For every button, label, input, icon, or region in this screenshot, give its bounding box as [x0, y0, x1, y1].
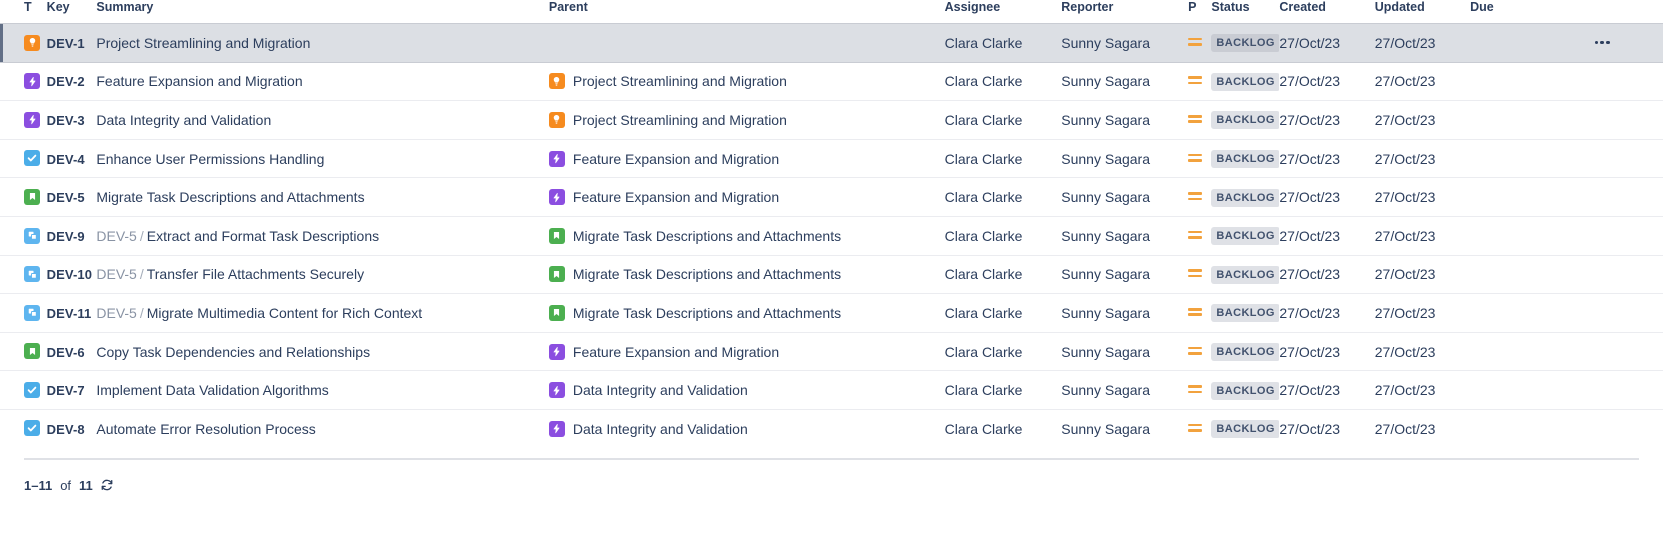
pagination-total: 11	[79, 478, 93, 493]
bookmark-icon	[24, 189, 40, 205]
status-badge: BACKLOG	[1211, 304, 1279, 322]
column-header-type[interactable]: T	[0, 0, 47, 24]
parent-title: Migrate Task Descriptions and Attachment…	[573, 266, 841, 282]
table-body: DEV-1Project Streamlining and MigrationC…	[0, 24, 1663, 448]
cell-parent[interactable]: Project Streamlining and Migration	[549, 62, 945, 101]
cell-due	[1470, 101, 1663, 140]
cell-created: 27/Oct/23	[1279, 371, 1374, 410]
column-header-summary[interactable]: Summary	[96, 0, 549, 24]
summary-parent-key: DEV-5	[96, 305, 136, 321]
priority-medium-icon	[1188, 229, 1202, 241]
cell-status[interactable]: BACKLOG	[1211, 101, 1279, 140]
parent-title: Project Streamlining and Migration	[573, 73, 787, 89]
cell-created: 27/Oct/23	[1279, 139, 1374, 178]
priority-medium-icon	[1188, 306, 1202, 318]
cell-key[interactable]: DEV-3	[47, 101, 97, 140]
cell-due	[1470, 139, 1663, 178]
cell-assignee: Clara Clarke	[945, 332, 1062, 371]
cell-key[interactable]: DEV-4	[47, 139, 97, 178]
summary-title: Extract and Format Task Descriptions	[147, 228, 379, 244]
issue-key-link[interactable]: DEV-7	[47, 383, 85, 398]
cell-summary[interactable]: Project Streamlining and Migration	[96, 24, 549, 63]
cell-priority	[1188, 62, 1211, 101]
table-row[interactable]: DEV-10DEV-5/Transfer File Attachments Se…	[0, 255, 1663, 294]
cell-key[interactable]: DEV-6	[47, 332, 97, 371]
cell-summary[interactable]: Implement Data Validation Algorithms	[96, 371, 549, 410]
cell-updated: 27/Oct/23	[1375, 294, 1470, 333]
cell-priority	[1188, 24, 1211, 63]
parent-title: Migrate Task Descriptions and Attachment…	[573, 305, 841, 321]
cell-type[interactable]	[0, 409, 47, 447]
cell-priority	[1188, 139, 1211, 178]
cell-priority	[1188, 332, 1211, 371]
cell-parent[interactable]: Migrate Task Descriptions and Attachment…	[549, 216, 945, 255]
cell-summary[interactable]: Migrate Task Descriptions and Attachment…	[96, 178, 549, 217]
cell-priority	[1188, 294, 1211, 333]
issues-table: T Key Summary Parent Assignee Reporter P…	[0, 0, 1663, 448]
cell-type[interactable]	[0, 216, 47, 255]
parent-title: Data Integrity and Validation	[573, 382, 748, 398]
cell-summary[interactable]: DEV-5/Extract and Format Task Descriptio…	[96, 216, 549, 255]
cell-priority	[1188, 371, 1211, 410]
cell-assignee: Clara Clarke	[945, 178, 1062, 217]
priority-medium-icon	[1188, 422, 1202, 434]
cell-reporter: Sunny Sagara	[1061, 294, 1188, 333]
summary-title: Enhance User Permissions Handling	[96, 151, 324, 167]
cell-due	[1470, 216, 1663, 255]
cell-type[interactable]	[0, 332, 47, 371]
column-header-created[interactable]: Created	[1279, 0, 1374, 24]
cell-summary[interactable]: Automate Error Resolution Process	[96, 409, 549, 447]
priority-medium-icon	[1188, 74, 1202, 86]
parent-title: Feature Expansion and Migration	[573, 344, 779, 360]
cell-due	[1470, 332, 1663, 371]
parent-title: Feature Expansion and Migration	[573, 189, 779, 205]
cell-created: 27/Oct/23	[1279, 294, 1374, 333]
epic-icon	[24, 35, 40, 51]
status-badge: BACKLOG	[1211, 420, 1279, 438]
summary-title: Data Integrity and Validation	[96, 112, 271, 128]
priority-medium-icon	[1188, 267, 1202, 279]
task-icon	[24, 382, 40, 398]
cell-parent[interactable]: Feature Expansion and Migration	[549, 178, 945, 217]
task-icon	[24, 150, 40, 166]
cell-key[interactable]: DEV-10	[47, 255, 97, 294]
cell-parent[interactable]: Migrate Task Descriptions and Attachment…	[549, 255, 945, 294]
cell-type[interactable]	[0, 178, 47, 217]
cell-status[interactable]: BACKLOG	[1211, 178, 1279, 217]
cell-key[interactable]: DEV-1	[47, 24, 97, 63]
subtask-icon	[24, 305, 40, 321]
cell-reporter: Sunny Sagara	[1061, 62, 1188, 101]
cell-parent[interactable]	[549, 24, 945, 63]
story-icon	[549, 382, 565, 398]
cell-parent[interactable]: Feature Expansion and Migration	[549, 332, 945, 371]
issue-key-link[interactable]: DEV-9	[47, 229, 85, 244]
table-header: T Key Summary Parent Assignee Reporter P…	[0, 0, 1663, 24]
cell-updated: 27/Oct/23	[1375, 371, 1470, 410]
parent-title: Data Integrity and Validation	[573, 421, 748, 437]
cell-parent[interactable]: Migrate Task Descriptions and Attachment…	[549, 294, 945, 333]
status-badge: BACKLOG	[1211, 150, 1279, 168]
cell-status[interactable]: BACKLOG	[1211, 139, 1279, 178]
priority-medium-icon	[1188, 152, 1202, 164]
cell-due	[1470, 371, 1663, 410]
table-row[interactable]: DEV-11DEV-5/Migrate Multimedia Content f…	[0, 294, 1663, 333]
cell-status[interactable]: BACKLOG	[1211, 62, 1279, 101]
status-badge: BACKLOG	[1211, 227, 1279, 245]
cell-created: 27/Oct/23	[1279, 178, 1374, 217]
table-row[interactable]: DEV-3Data Integrity and ValidationProjec…	[0, 101, 1663, 140]
row-actions-button[interactable]	[1588, 31, 1616, 55]
cell-reporter: Sunny Sagara	[1061, 409, 1188, 447]
priority-medium-icon	[1188, 190, 1202, 202]
cell-type[interactable]	[0, 62, 47, 101]
cell-updated: 27/Oct/23	[1375, 101, 1470, 140]
priority-medium-icon	[1188, 113, 1202, 125]
cell-priority	[1188, 216, 1211, 255]
issue-key-link[interactable]: DEV-8	[47, 422, 85, 437]
cell-key[interactable]: DEV-11	[47, 294, 97, 333]
issue-key-link[interactable]: DEV-5	[47, 190, 85, 205]
cell-due	[1470, 255, 1663, 294]
cell-updated: 27/Oct/23	[1375, 139, 1470, 178]
summary-separator: /	[137, 266, 147, 282]
cell-assignee: Clara Clarke	[945, 62, 1062, 101]
table-row[interactable]: DEV-2Feature Expansion and MigrationProj…	[0, 62, 1663, 101]
cell-summary[interactable]: Feature Expansion and Migration	[96, 62, 549, 101]
status-badge: BACKLOG	[1211, 73, 1279, 91]
cell-key[interactable]: DEV-2	[47, 62, 97, 101]
parent-title: Migrate Task Descriptions and Attachment…	[573, 228, 841, 244]
bookmark-icon	[549, 228, 565, 244]
cell-updated: 27/Oct/23	[1375, 62, 1470, 101]
refresh-icon[interactable]	[100, 478, 114, 492]
table-row[interactable]: DEV-9DEV-5/Extract and Format Task Descr…	[0, 216, 1663, 255]
summary-parent-key: DEV-5	[96, 266, 136, 282]
cell-priority	[1188, 409, 1211, 447]
story-icon	[549, 189, 565, 205]
cell-parent[interactable]: Feature Expansion and Migration	[549, 139, 945, 178]
cell-type[interactable]	[0, 255, 47, 294]
cell-reporter: Sunny Sagara	[1061, 24, 1188, 63]
table-row[interactable]: DEV-8Automate Error Resolution ProcessDa…	[0, 409, 1663, 447]
cell-status[interactable]: BACKLOG	[1211, 24, 1279, 63]
cell-key[interactable]: DEV-9	[47, 216, 97, 255]
story-icon	[549, 421, 565, 437]
cell-type[interactable]	[0, 24, 47, 63]
column-header-status[interactable]: Status	[1211, 0, 1279, 24]
story-icon	[24, 73, 40, 89]
bookmark-icon	[24, 343, 40, 359]
cell-created: 27/Oct/23	[1279, 409, 1374, 447]
issue-key-link[interactable]: DEV-2	[47, 74, 85, 89]
cell-due	[1470, 409, 1663, 447]
story-icon	[24, 112, 40, 128]
cell-reporter: Sunny Sagara	[1061, 371, 1188, 410]
column-header-reporter[interactable]: Reporter	[1061, 0, 1188, 24]
summary-title: Automate Error Resolution Process	[96, 421, 315, 437]
status-badge: BACKLOG	[1211, 34, 1279, 52]
summary-title: Implement Data Validation Algorithms	[96, 382, 328, 398]
column-header-parent[interactable]: Parent	[549, 0, 945, 24]
status-badge: BACKLOG	[1211, 382, 1279, 400]
issue-key-link[interactable]: DEV-6	[47, 345, 85, 360]
cell-summary[interactable]: DEV-5/Transfer File Attachments Securely	[96, 255, 549, 294]
status-badge: BACKLOG	[1211, 189, 1279, 207]
cell-due	[1470, 62, 1663, 101]
cell-reporter: Sunny Sagara	[1061, 332, 1188, 371]
table-row[interactable]: DEV-5Migrate Task Descriptions and Attac…	[0, 178, 1663, 217]
cell-key[interactable]: DEV-7	[47, 371, 97, 410]
cell-assignee: Clara Clarke	[945, 101, 1062, 140]
status-badge: BACKLOG	[1211, 266, 1279, 284]
priority-medium-icon	[1188, 383, 1202, 395]
story-icon	[549, 151, 565, 167]
cell-status[interactable]: BACKLOG	[1211, 332, 1279, 371]
cell-reporter: Sunny Sagara	[1061, 101, 1188, 140]
cell-summary[interactable]: DEV-5/Migrate Multimedia Content for Ric…	[96, 294, 549, 333]
cell-assignee: Clara Clarke	[945, 139, 1062, 178]
column-header-assignee[interactable]: Assignee	[945, 0, 1062, 24]
cell-reporter: Sunny Sagara	[1061, 255, 1188, 294]
cell-type[interactable]	[0, 101, 47, 140]
table-footer: 1–11 of 11	[0, 460, 1663, 493]
parent-title: Project Streamlining and Migration	[573, 112, 787, 128]
bookmark-icon	[549, 305, 565, 321]
cell-key[interactable]: DEV-5	[47, 178, 97, 217]
cell-assignee: Clara Clarke	[945, 294, 1062, 333]
cell-status[interactable]: BACKLOG	[1211, 255, 1279, 294]
issue-key-link[interactable]: DEV-1	[47, 36, 85, 51]
task-icon	[24, 420, 40, 436]
subtask-icon	[24, 266, 40, 282]
cell-summary[interactable]: Enhance User Permissions Handling	[96, 139, 549, 178]
cell-priority	[1188, 101, 1211, 140]
pagination-range: 1–11	[24, 478, 52, 493]
priority-medium-icon	[1188, 36, 1202, 48]
column-header-updated[interactable]: Updated	[1375, 0, 1470, 24]
summary-separator: /	[137, 228, 147, 244]
issue-key-link[interactable]: DEV-4	[47, 152, 85, 167]
summary-title: Migrate Task Descriptions and Attachment…	[96, 189, 364, 205]
cell-updated: 27/Oct/23	[1375, 24, 1470, 63]
story-icon	[549, 344, 565, 360]
cell-status[interactable]: BACKLOG	[1211, 409, 1279, 447]
summary-title: Feature Expansion and Migration	[96, 73, 302, 89]
cell-parent[interactable]: Project Streamlining and Migration	[549, 101, 945, 140]
subtask-icon	[24, 228, 40, 244]
epic-icon	[549, 73, 565, 89]
cell-reporter: Sunny Sagara	[1061, 139, 1188, 178]
cell-type[interactable]	[0, 371, 47, 410]
cell-parent[interactable]: Data Integrity and Validation	[549, 409, 945, 447]
table-row[interactable]: DEV-7Implement Data Validation Algorithm…	[0, 371, 1663, 410]
column-header-key[interactable]: Key	[47, 0, 97, 24]
cell-reporter: Sunny Sagara	[1061, 178, 1188, 217]
cell-summary[interactable]: Copy Task Dependencies and Relationships	[96, 332, 549, 371]
summary-title: Copy Task Dependencies and Relationships	[96, 344, 370, 360]
issue-key-link[interactable]: DEV-3	[47, 113, 85, 128]
cell-updated: 27/Oct/23	[1375, 255, 1470, 294]
status-badge: BACKLOG	[1211, 111, 1279, 129]
pagination-of-label: of	[59, 478, 72, 493]
cell-updated: 27/Oct/23	[1375, 178, 1470, 217]
column-header-priority[interactable]: P	[1188, 0, 1211, 24]
cell-due	[1470, 294, 1663, 333]
cell-created: 27/Oct/23	[1279, 255, 1374, 294]
cell-parent[interactable]: Data Integrity and Validation	[549, 371, 945, 410]
cell-created: 27/Oct/23	[1279, 24, 1374, 63]
cell-assignee: Clara Clarke	[945, 216, 1062, 255]
header-row: T Key Summary Parent Assignee Reporter P…	[0, 0, 1663, 24]
cell-type[interactable]	[0, 139, 47, 178]
issue-key-link[interactable]: DEV-10	[47, 267, 92, 282]
parent-title: Feature Expansion and Migration	[573, 151, 779, 167]
cell-created: 27/Oct/23	[1279, 101, 1374, 140]
bookmark-icon	[549, 266, 565, 282]
summary-title: Transfer File Attachments Securely	[147, 266, 364, 282]
cell-due	[1470, 24, 1663, 63]
summary-title: Migrate Multimedia Content for Rich Cont…	[147, 305, 422, 321]
cell-updated: 27/Oct/23	[1375, 216, 1470, 255]
cell-assignee: Clara Clarke	[945, 24, 1062, 63]
cell-updated: 27/Oct/23	[1375, 409, 1470, 447]
epic-icon	[549, 112, 565, 128]
table-row[interactable]: DEV-6Copy Task Dependencies and Relation…	[0, 332, 1663, 371]
summary-parent-key: DEV-5	[96, 228, 136, 244]
cell-priority	[1188, 178, 1211, 217]
cell-created: 27/Oct/23	[1279, 62, 1374, 101]
cell-status[interactable]: BACKLOG	[1211, 216, 1279, 255]
cell-assignee: Clara Clarke	[945, 409, 1062, 447]
table-row[interactable]: DEV-4Enhance User Permissions HandlingFe…	[0, 139, 1663, 178]
cell-type[interactable]	[0, 294, 47, 333]
issue-key-link[interactable]: DEV-11	[47, 306, 92, 321]
cell-status[interactable]: BACKLOG	[1211, 371, 1279, 410]
cell-summary[interactable]: Data Integrity and Validation	[96, 101, 549, 140]
cell-created: 27/Oct/23	[1279, 332, 1374, 371]
cell-priority	[1188, 255, 1211, 294]
cell-assignee: Clara Clarke	[945, 371, 1062, 410]
column-header-due[interactable]: Due	[1470, 0, 1663, 24]
table-row[interactable]: DEV-1Project Streamlining and MigrationC…	[0, 24, 1663, 63]
cell-key[interactable]: DEV-8	[47, 409, 97, 447]
cell-assignee: Clara Clarke	[945, 255, 1062, 294]
cell-created: 27/Oct/23	[1279, 216, 1374, 255]
cell-updated: 27/Oct/23	[1375, 332, 1470, 371]
cell-due	[1470, 178, 1663, 217]
summary-separator: /	[137, 305, 147, 321]
summary-title: Project Streamlining and Migration	[96, 35, 310, 51]
cell-status[interactable]: BACKLOG	[1211, 294, 1279, 333]
cell-reporter: Sunny Sagara	[1061, 216, 1188, 255]
status-badge: BACKLOG	[1211, 343, 1279, 361]
priority-medium-icon	[1188, 345, 1202, 357]
